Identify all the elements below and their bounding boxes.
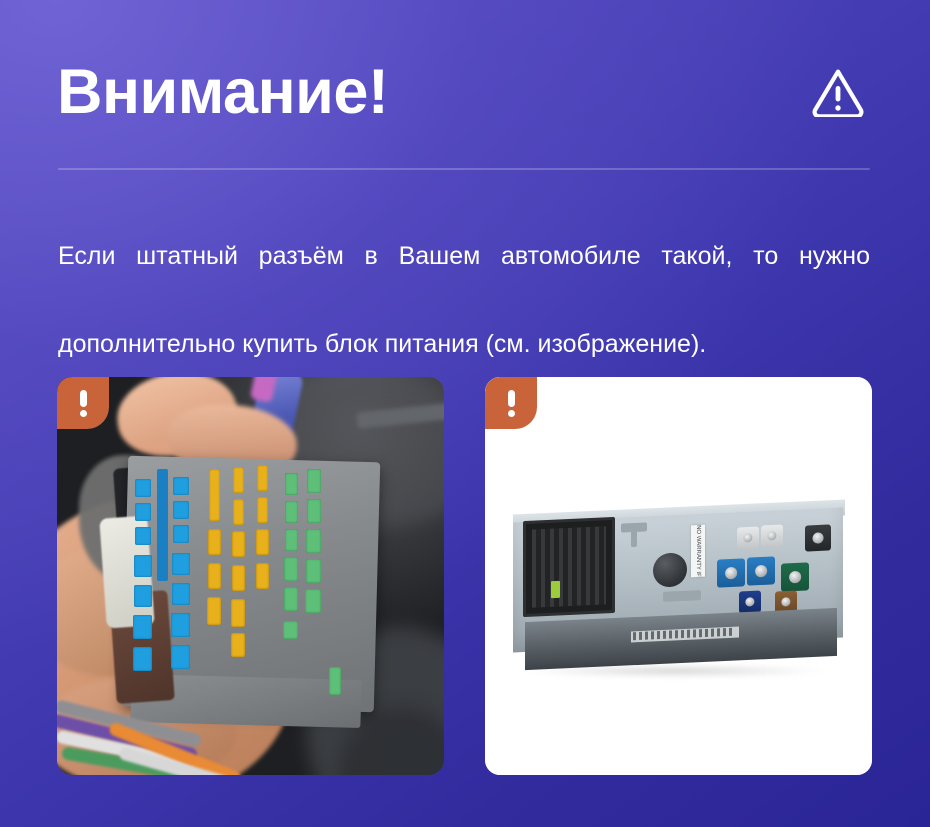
intro-paragraph: Если штатный разъём в Вашем автомобиле т… xyxy=(58,234,870,366)
header: Внимание! xyxy=(57,46,871,138)
image-card-row: NO WARRANTY IF xyxy=(57,377,872,775)
exclamation-icon xyxy=(485,377,537,429)
module-sticker-text: NO WARRANTY IF xyxy=(695,525,701,577)
warning-triangle-icon xyxy=(809,63,867,121)
page-title: Внимание! xyxy=(57,61,388,124)
card-power-supply-module[interactable]: NO WARRANTY IF xyxy=(485,377,872,775)
exclamation-icon xyxy=(57,377,109,429)
card-car-connector[interactable] xyxy=(57,377,444,775)
module-sticker: NO WARRANTY IF xyxy=(691,525,705,578)
car-connector-photo xyxy=(57,377,444,775)
power-supply-module-photo: NO WARRANTY IF xyxy=(485,377,872,775)
intro-line-1: Если штатный разъём в Вашем автомобиле т… xyxy=(58,234,870,322)
warning-slide: Внимание! Если штатный разъём в Вашем ав… xyxy=(0,0,930,827)
header-divider xyxy=(58,168,870,170)
intro-line-2: дополнительно купить блок питания (см. и… xyxy=(58,322,870,366)
